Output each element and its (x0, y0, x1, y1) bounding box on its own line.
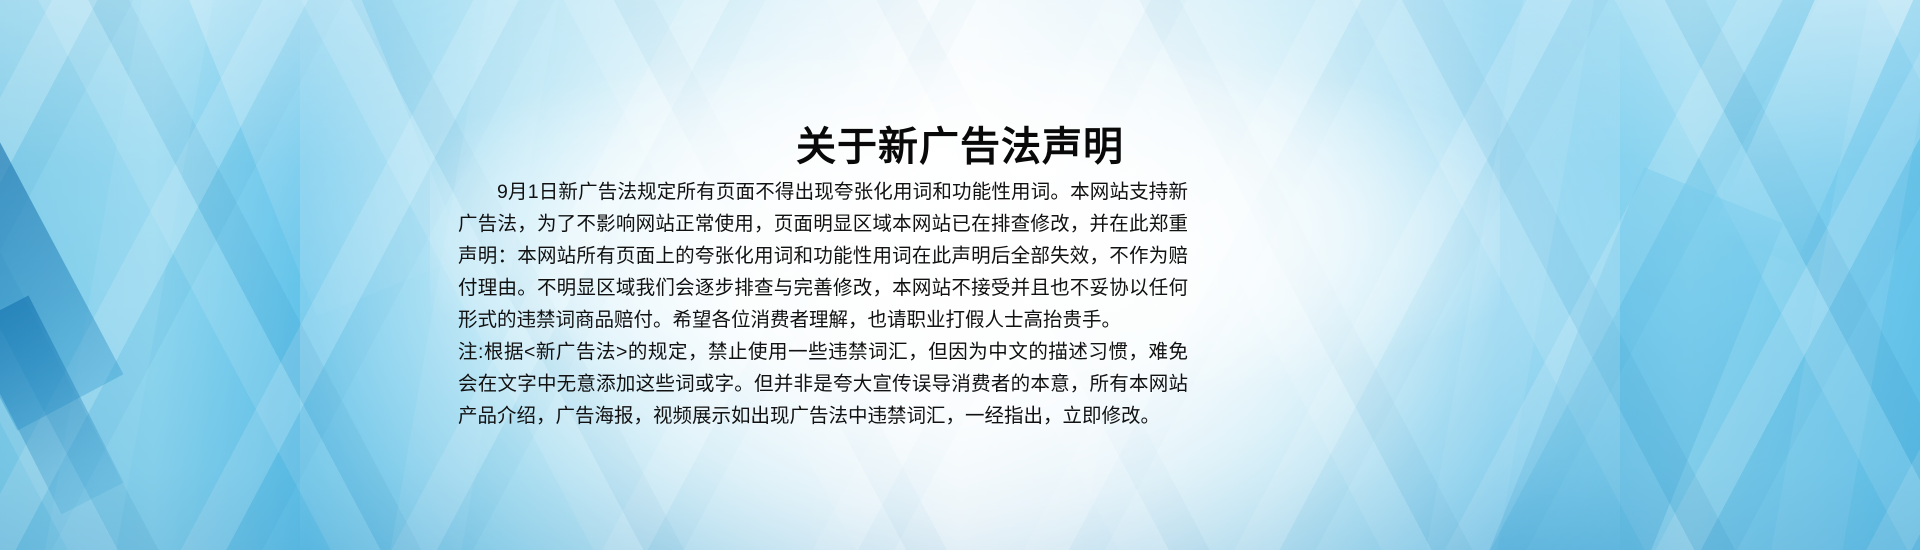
statement-content: 关于新广告法声明 9月1日新广告法规定所有页面不得出现夸张化用词和功能性用词。本… (0, 0, 1920, 550)
statement-body: 9月1日新广告法规定所有页面不得出现夸张化用词和功能性用词。本网站支持新广告法，… (458, 176, 1188, 432)
advertising-law-statement-banner: 关于新广告法声明 9月1日新广告法规定所有页面不得出现夸张化用词和功能性用词。本… (0, 0, 1920, 550)
page-title: 关于新广告法声明 (0, 123, 1920, 171)
statement-paragraph-main: 9月1日新广告法规定所有页面不得出现夸张化用词和功能性用词。本网站支持新广告法，… (458, 176, 1188, 336)
statement-paragraph-note: 注:根据<新广告法>的规定，禁止使用一些违禁词汇，但因为中文的描述习惯，难免会在… (458, 336, 1188, 432)
